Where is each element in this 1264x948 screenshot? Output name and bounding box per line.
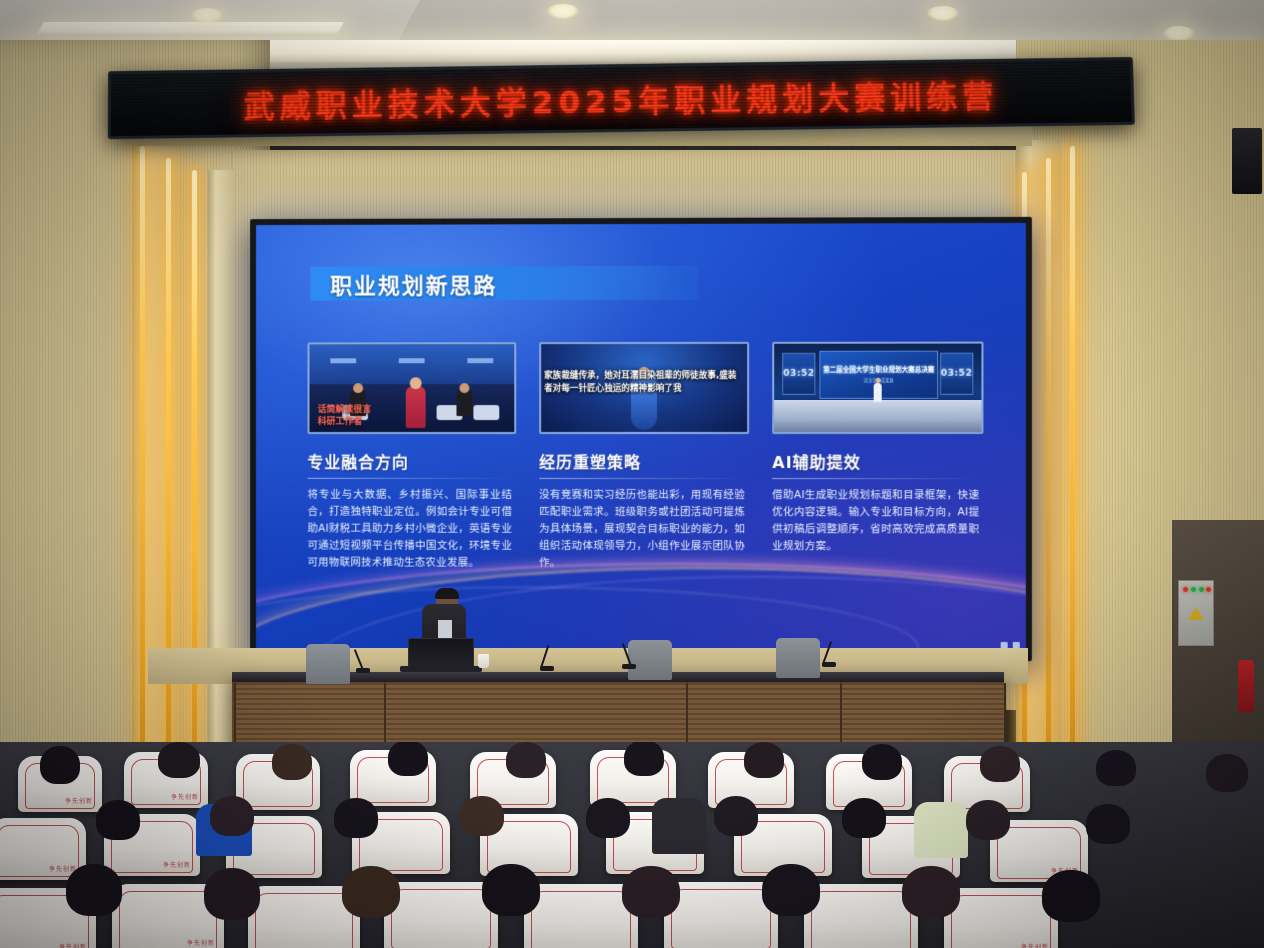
downlight-icon (190, 8, 224, 24)
thumb3-timer-right: 03:52 (941, 369, 972, 379)
audience-head (586, 798, 630, 838)
audience-head (966, 800, 1010, 840)
seat[interactable] (384, 882, 498, 948)
thumbnail-stage-panel: 话筒解读很言 科研工作者 (308, 342, 517, 434)
audience-head (210, 796, 254, 836)
audience-head (1096, 750, 1136, 786)
thumb2-subtitle: 家族裁缝传承，她对耳濡目染祖辈的师徒故事,盛装者对每一针匠心独运的精神影响了我 (544, 370, 744, 395)
projection-screen[interactable]: 职业规划新思路 话筒解读很言 (250, 217, 1032, 661)
microphone-base (822, 662, 836, 667)
seat[interactable] (664, 882, 778, 948)
audience-head (622, 866, 680, 918)
indicator-light-icon (1191, 587, 1196, 592)
downlight-icon (926, 6, 960, 22)
audience-head (482, 864, 540, 916)
seat-label: 争先创新 (65, 796, 93, 805)
panel-chair[interactable] (628, 640, 672, 680)
audience-head (40, 746, 80, 784)
laptop[interactable] (408, 638, 474, 668)
microphone-base (540, 666, 554, 671)
audience-head (388, 742, 428, 776)
led-light-strip (166, 158, 171, 826)
audience-head (460, 796, 504, 836)
pilaster-left-inner (208, 170, 234, 822)
warning-triangle-icon (1188, 607, 1204, 620)
led-light-strip (140, 146, 145, 826)
audience-head (1206, 754, 1248, 792)
microphone-base (622, 664, 636, 669)
thumb3-timer-left: 03:52 (783, 369, 814, 379)
indicator-light-icon (1199, 587, 1204, 592)
indicator-light-icon (1183, 587, 1188, 592)
audience-head (342, 866, 400, 918)
audience-head (66, 864, 122, 916)
slide-wave-decoration (256, 473, 1026, 655)
microphone-base (356, 668, 370, 673)
audience-head (624, 742, 664, 776)
audience-head (158, 742, 200, 778)
led-banner: 武威职业技术大学2025年职业规划大赛训练营 (108, 57, 1135, 139)
audience-head (762, 864, 820, 916)
audience-head (334, 798, 378, 838)
seat-label: 争先创新 (1021, 942, 1049, 948)
paper-cup (478, 654, 489, 668)
audience-head (980, 746, 1020, 782)
audience-head (1042, 870, 1100, 922)
audience-coat (652, 798, 706, 854)
audience-head (204, 868, 260, 920)
seat[interactable] (524, 884, 638, 948)
slide-title: 职业规划新思路 (330, 268, 497, 300)
electrical-control-panel[interactable] (1178, 580, 1214, 646)
audience-head (862, 744, 902, 780)
panel-chair[interactable] (776, 638, 820, 678)
thumb1-caption: 话筒解读很言 科研工作者 (318, 404, 372, 428)
seat-label: 争先创新 (59, 942, 87, 948)
banner-text: 武威职业技术大学2025年职业规划大赛训练营 (244, 70, 999, 125)
audience-head (714, 796, 758, 836)
audience-head (272, 744, 312, 780)
led-light-strip (1046, 158, 1051, 822)
panel-chair[interactable] (306, 644, 350, 684)
audience-head (744, 742, 784, 778)
seat-label: 争先创新 (187, 938, 215, 947)
lecture-hall-scene: 武威职业技术大学2025年职业规划大赛训练营 职业规划新思路 (0, 0, 1264, 948)
fire-extinguisher-icon (1238, 660, 1254, 712)
led-light-strip (1070, 146, 1075, 824)
seat[interactable] (804, 884, 918, 948)
thumbnail-competition-final: 03:52 03:52 第二届全国大学生职业规划大赛总决赛 就业育人成果展 · … (772, 342, 983, 434)
thumb3-screen-title: 第二届全国大学生职业规划大赛总决赛 (823, 366, 934, 376)
indicator-light-icon (1206, 587, 1211, 592)
thumbnail-blue-dress-speaker: 家族裁缝传承，她对耳濡目染祖辈的师徒故事,盛装者对每一针匠心独运的精神影响了我 (539, 342, 749, 434)
audience-coat (914, 802, 968, 858)
downlight-icon (546, 4, 580, 20)
laptop-base (400, 666, 482, 672)
pilaster-left (132, 132, 178, 822)
led-light-strip (192, 170, 197, 826)
seat-label: 争先创新 (163, 860, 191, 869)
audience-head (96, 800, 140, 840)
audience-head (506, 742, 546, 778)
seat-label: 争先创新 (171, 792, 199, 801)
audience-head (842, 798, 886, 838)
presenter-hair (435, 588, 459, 599)
seat[interactable]: 争先创新 (944, 888, 1058, 948)
presentation-slide: 职业规划新思路 话筒解读很言 (256, 223, 1026, 655)
audience-seating: 争先创新 争先创新 争先创新 争先创新 争先创新 (0, 742, 1264, 948)
audience-head (1086, 804, 1130, 844)
wall-speaker-icon (1232, 128, 1262, 194)
audience-head (902, 866, 960, 918)
ceiling-light-strip-left (36, 22, 344, 36)
